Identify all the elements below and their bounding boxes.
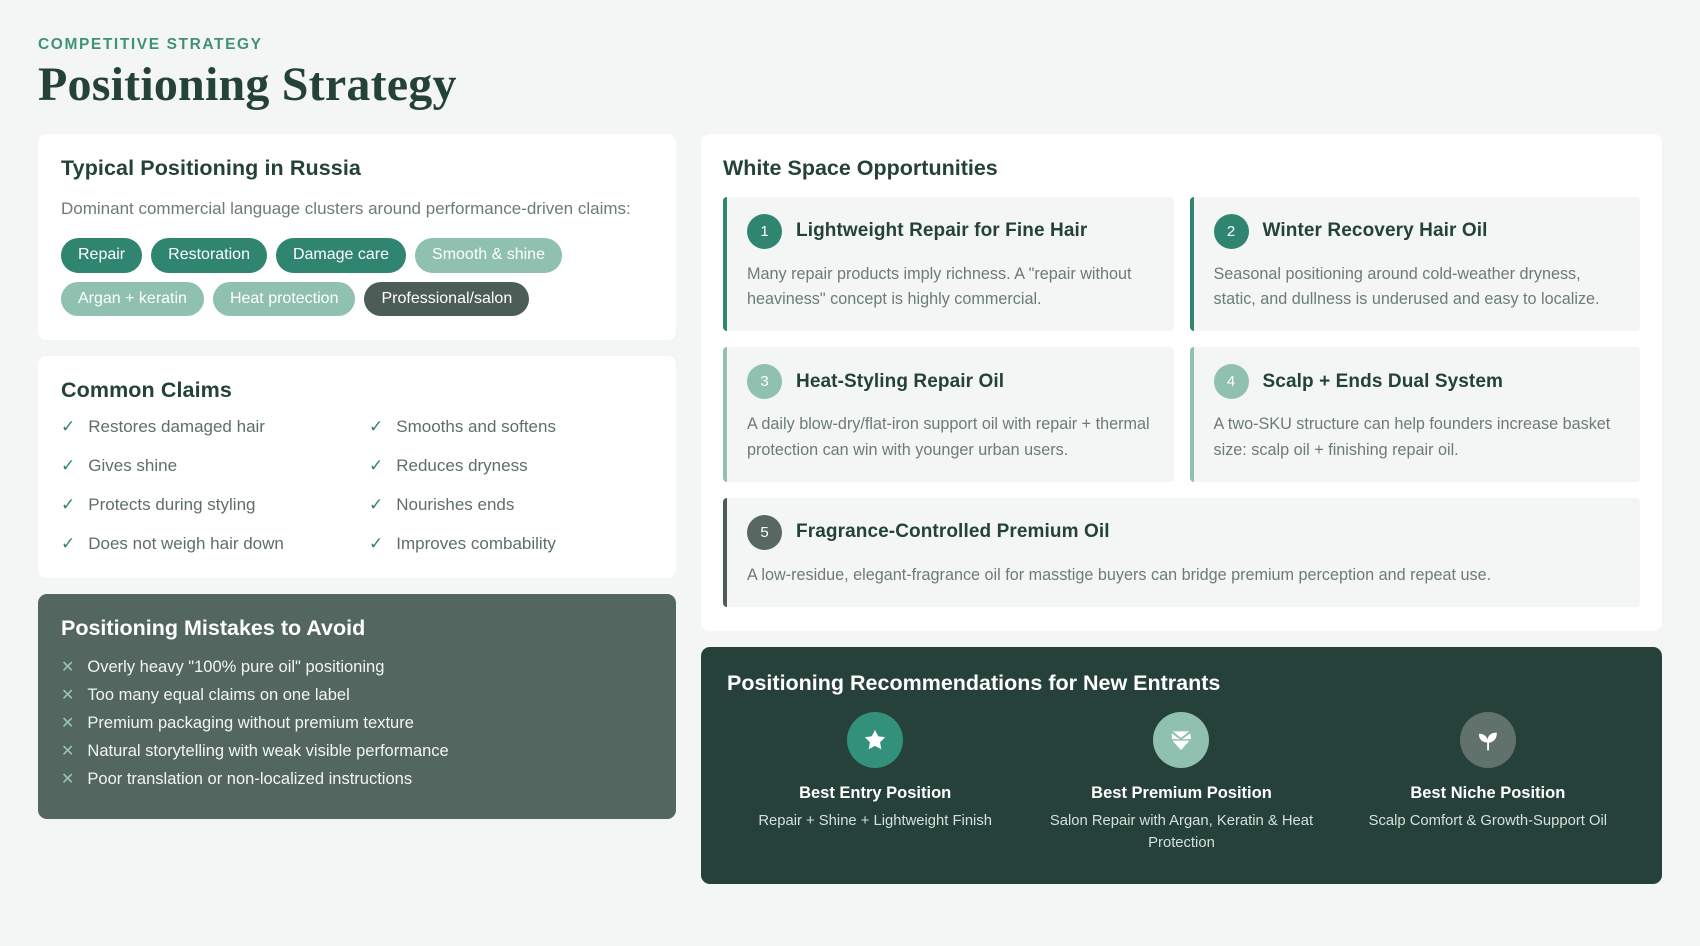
white-space-opportunities-card: White Space Opportunities 1 Lightweight …	[701, 134, 1662, 631]
claim-label: Protects during styling	[88, 495, 255, 515]
tag-damage-care[interactable]: Damage care	[276, 238, 406, 273]
opportunity-body: Many repair products imply richness. A "…	[747, 262, 1154, 313]
opportunity-head: 1 Lightweight Repair for Fine Hair	[747, 214, 1154, 249]
gem-icon	[1153, 712, 1209, 768]
claim-item: ✓ Restores damaged hair	[61, 417, 345, 437]
opportunity-body: A low-residue, elegant-fragrance oil for…	[747, 563, 1620, 588]
claim-item: ✓ Nourishes ends	[369, 495, 653, 515]
opportunity-head: 5 Fragrance-Controlled Premium Oil	[747, 515, 1620, 550]
recommendation-sub: Salon Repair with Argan, Keratin & Heat …	[1047, 811, 1315, 854]
opportunity-body: Seasonal positioning around cold-weather…	[1214, 262, 1621, 313]
check-icon: ✓	[369, 418, 383, 435]
check-icon: ✓	[61, 535, 75, 552]
cross-icon: ✕	[61, 688, 74, 704]
tag-repair[interactable]: Repair	[61, 238, 142, 273]
page-header: COMPETITIVE STRATEGY Positioning Strateg…	[38, 36, 1662, 112]
mistake-item: ✕ Poor translation or non-localized inst…	[61, 765, 653, 793]
opportunity-card-1[interactable]: 1 Lightweight Repair for Fine Hair Many …	[723, 197, 1174, 332]
opportunity-card-4[interactable]: 4 Scalp + Ends Dual System A two-SKU str…	[1190, 347, 1641, 482]
left-column: Typical Positioning in Russia Dominant c…	[38, 134, 676, 820]
tag-restoration[interactable]: Restoration	[151, 238, 267, 273]
eyebrow-label: COMPETITIVE STRATEGY	[38, 36, 1662, 54]
opportunity-number-badge: 5	[747, 515, 782, 550]
recommendation-premium: Best Premium Position Salon Repair with …	[1033, 712, 1329, 854]
check-icon: ✓	[369, 535, 383, 552]
check-icon: ✓	[61, 496, 75, 513]
mistake-label: Poor translation or non-localized instru…	[87, 770, 412, 789]
mistake-label: Overly heavy "100% pure oil" positioning	[87, 658, 384, 677]
claim-item: ✓ Improves combability	[369, 534, 653, 554]
opportunity-body: A daily blow-dry/flat-iron support oil w…	[747, 412, 1154, 463]
tag-argan-keratin[interactable]: Argan + keratin	[61, 282, 204, 317]
recommendation-niche: Best Niche Position Scalp Comfort & Grow…	[1340, 712, 1636, 854]
positioning-mistakes-card: Positioning Mistakes to Avoid ✕ Overly h…	[38, 594, 676, 819]
claim-item: ✓ Does not weigh hair down	[61, 534, 345, 554]
page-title: Positioning Strategy	[38, 58, 1662, 112]
claim-item: ✓ Reduces dryness	[369, 456, 653, 476]
cross-icon: ✕	[61, 716, 74, 732]
claim-label: Smooths and softens	[396, 417, 556, 437]
mistake-item: ✕ Overly heavy "100% pure oil" positioni…	[61, 653, 653, 681]
recommendation-label: Best Entry Position	[741, 784, 1009, 803]
recommendation-sub: Repair + Shine + Lightweight Finish	[741, 811, 1009, 832]
opportunity-head: 4 Scalp + Ends Dual System	[1214, 364, 1621, 399]
recommendations-panel: Positioning Recommendations for New Entr…	[701, 647, 1662, 884]
positioning-mistakes-list: ✕ Overly heavy "100% pure oil" positioni…	[61, 653, 653, 793]
opportunity-head: 2 Winter Recovery Hair Oil	[1214, 214, 1621, 249]
star-icon	[847, 712, 903, 768]
mistake-label: Premium packaging without premium textur…	[87, 714, 413, 733]
check-icon: ✓	[61, 457, 75, 474]
tag-smooth-and-shine[interactable]: Smooth & shine	[415, 238, 562, 273]
cross-icon: ✕	[61, 772, 74, 788]
claim-label: Restores damaged hair	[88, 417, 265, 437]
sprout-icon	[1460, 712, 1516, 768]
mistake-item: ✕ Too many equal claims on one label	[61, 681, 653, 709]
recommendations-title: Positioning Recommendations for New Entr…	[727, 671, 1636, 696]
typical-positioning-card: Typical Positioning in Russia Dominant c…	[38, 134, 676, 341]
tag-heat-protection[interactable]: Heat protection	[213, 282, 356, 317]
opportunity-grid: 1 Lightweight Repair for Fine Hair Many …	[723, 197, 1640, 607]
opportunity-number-badge: 1	[747, 214, 782, 249]
claim-label: Reduces dryness	[396, 456, 527, 476]
claim-label: Does not weigh hair down	[88, 534, 284, 554]
claim-label: Improves combability	[396, 534, 556, 554]
check-icon: ✓	[369, 457, 383, 474]
common-claims-grid: ✓ Restores damaged hair ✓ Smooths and so…	[61, 417, 653, 554]
tag-professional-salon[interactable]: Professional/salon	[364, 282, 529, 317]
white-space-title: White Space Opportunities	[723, 156, 1640, 181]
opportunity-title: Heat-Styling Repair Oil	[796, 371, 1004, 393]
opportunity-head: 3 Heat-Styling Repair Oil	[747, 364, 1154, 399]
mistake-item: ✕ Natural storytelling with weak visible…	[61, 737, 653, 765]
check-icon: ✓	[61, 418, 75, 435]
recommendation-label: Best Premium Position	[1047, 784, 1315, 803]
typical-positioning-title: Typical Positioning in Russia	[61, 156, 653, 181]
opportunity-title: Scalp + Ends Dual System	[1263, 371, 1504, 393]
right-column: White Space Opportunities 1 Lightweight …	[701, 134, 1662, 884]
opportunity-card-2[interactable]: 2 Winter Recovery Hair Oil Seasonal posi…	[1190, 197, 1641, 332]
opportunity-body: A two-SKU structure can help founders in…	[1214, 412, 1621, 463]
content-columns: Typical Positioning in Russia Dominant c…	[38, 134, 1662, 884]
common-claims-title: Common Claims	[61, 378, 653, 403]
opportunity-card-3[interactable]: 3 Heat-Styling Repair Oil A daily blow-d…	[723, 347, 1174, 482]
opportunity-number-badge: 3	[747, 364, 782, 399]
recommendation-label: Best Niche Position	[1354, 784, 1622, 803]
opportunity-number-badge: 4	[1214, 364, 1249, 399]
opportunity-title: Lightweight Repair for Fine Hair	[796, 220, 1087, 242]
positioning-mistakes-title: Positioning Mistakes to Avoid	[61, 616, 653, 641]
opportunity-number-badge: 2	[1214, 214, 1249, 249]
common-claims-card: Common Claims ✓ Restores damaged hair ✓ …	[38, 356, 676, 578]
recommendation-entry: Best Entry Position Repair + Shine + Lig…	[727, 712, 1023, 854]
mistake-item: ✕ Premium packaging without premium text…	[61, 709, 653, 737]
positioning-tag-list: Repair Restoration Damage care Smooth & …	[61, 238, 581, 316]
claim-label: Nourishes ends	[396, 495, 514, 515]
recommendation-sub: Scalp Comfort & Growth-Support Oil	[1354, 811, 1622, 832]
recommendations-grid: Best Entry Position Repair + Shine + Lig…	[727, 712, 1636, 854]
mistake-label: Too many equal claims on one label	[87, 686, 349, 705]
opportunity-card-5[interactable]: 5 Fragrance-Controlled Premium Oil A low…	[723, 498, 1640, 607]
claim-label: Gives shine	[88, 456, 177, 476]
opportunity-title: Winter Recovery Hair Oil	[1263, 220, 1488, 242]
opportunity-title: Fragrance-Controlled Premium Oil	[796, 521, 1110, 543]
cross-icon: ✕	[61, 744, 74, 760]
cross-icon: ✕	[61, 660, 74, 676]
slide-root: COMPETITIVE STRATEGY Positioning Strateg…	[0, 0, 1700, 946]
mistake-label: Natural storytelling with weak visible p…	[87, 742, 448, 761]
check-icon: ✓	[369, 496, 383, 513]
claim-item: ✓ Protects during styling	[61, 495, 345, 515]
claim-item: ✓ Smooths and softens	[369, 417, 653, 437]
typical-positioning-lede: Dominant commercial language clusters ar…	[61, 195, 653, 223]
claim-item: ✓ Gives shine	[61, 456, 345, 476]
